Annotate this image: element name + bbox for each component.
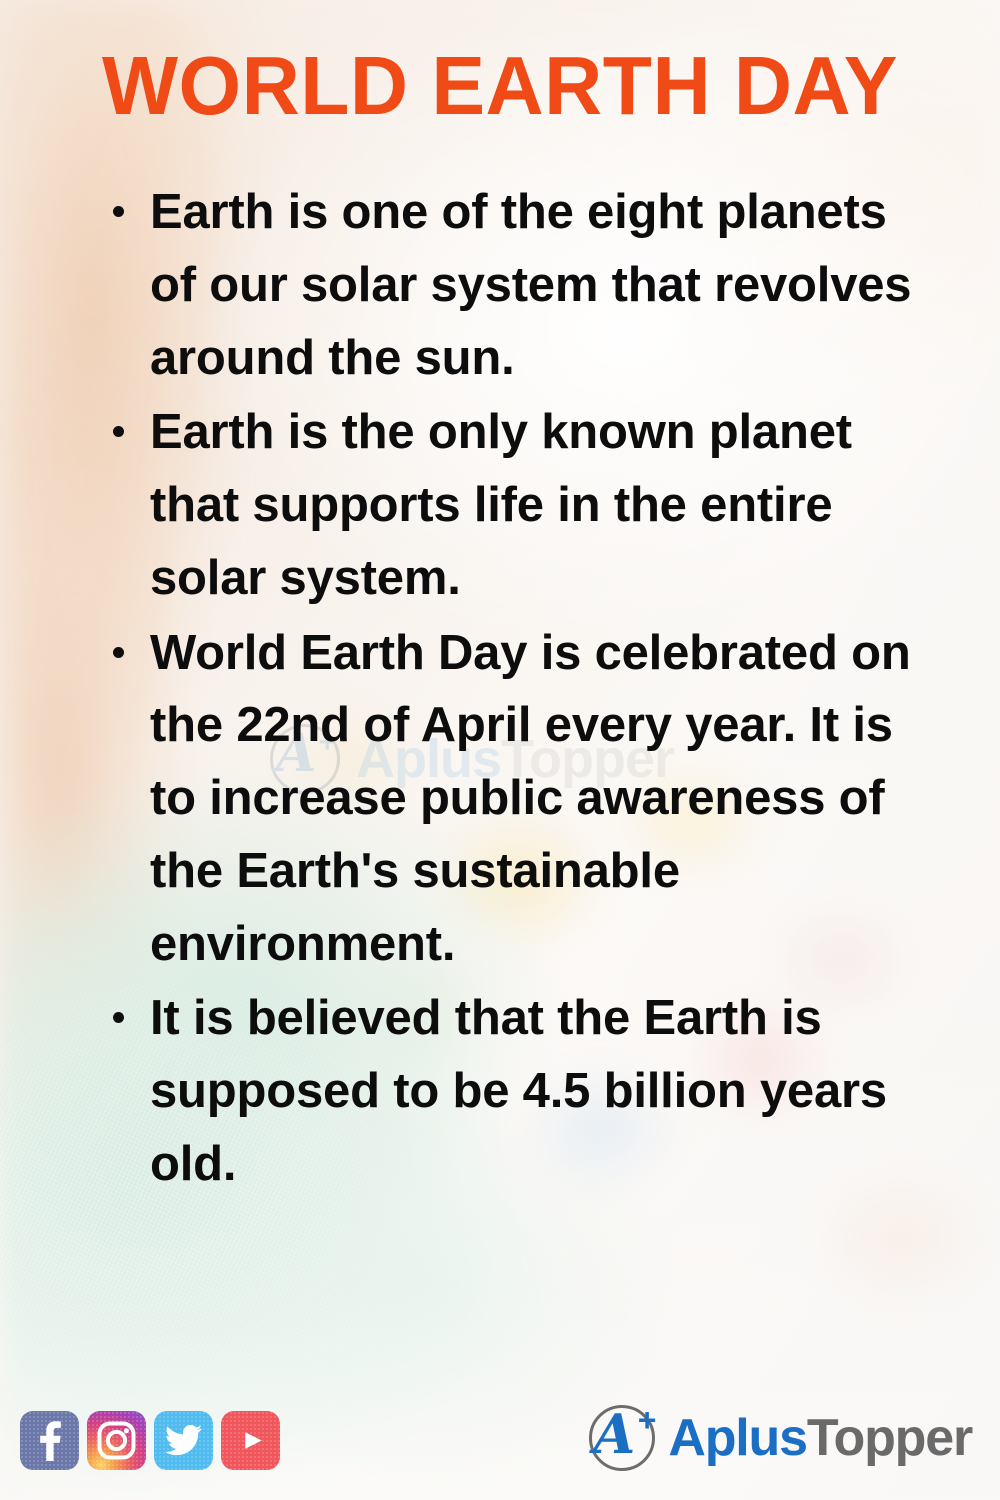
social-links [20,1411,280,1470]
page-title: WORLD EARTH DAY [15,44,985,127]
brand-aplus-text: Aplus [668,1409,806,1467]
bullet-dot-icon [113,426,124,437]
list-item-text: Earth is one of the eight planets of our… [150,185,911,385]
list-item: World Earth Day is celebrated on the 22n… [100,617,930,981]
youtube-icon[interactable] [221,1411,280,1470]
poster-canvas: A + AplusTopper WORLD EARTH DAY Earth is… [0,0,1000,1500]
list-item: Earth is one of the eight planets of our… [100,176,930,394]
bullet-dot-icon [113,206,124,217]
twitter-icon[interactable] [154,1411,213,1470]
list-item-text: Earth is the only known planet that supp… [150,405,852,605]
fact-list: Earth is one of the eight planets of our… [100,176,930,1203]
brand-logo[interactable]: A + AplusTopper [586,1402,972,1474]
bullet-dot-icon [113,1012,124,1023]
list-item: It is believed that the Earth is suppose… [100,982,930,1200]
brand-topper-text: Topper [807,1409,972,1467]
brand-logo-mark: A + [586,1402,658,1474]
list-item-text: World Earth Day is celebrated on the 22n… [150,626,911,971]
brand-wordmark: AplusTopper [668,1412,972,1464]
facebook-icon[interactable] [20,1411,79,1470]
brand-plus-icon: + [638,1404,657,1436]
brand-letter-a: A [593,1407,635,1461]
list-item: Earth is the only known planet that supp… [100,396,930,614]
instagram-icon[interactable] [87,1411,146,1470]
list-item-text: It is believed that the Earth is suppose… [150,991,887,1191]
bullet-dot-icon [113,647,124,658]
